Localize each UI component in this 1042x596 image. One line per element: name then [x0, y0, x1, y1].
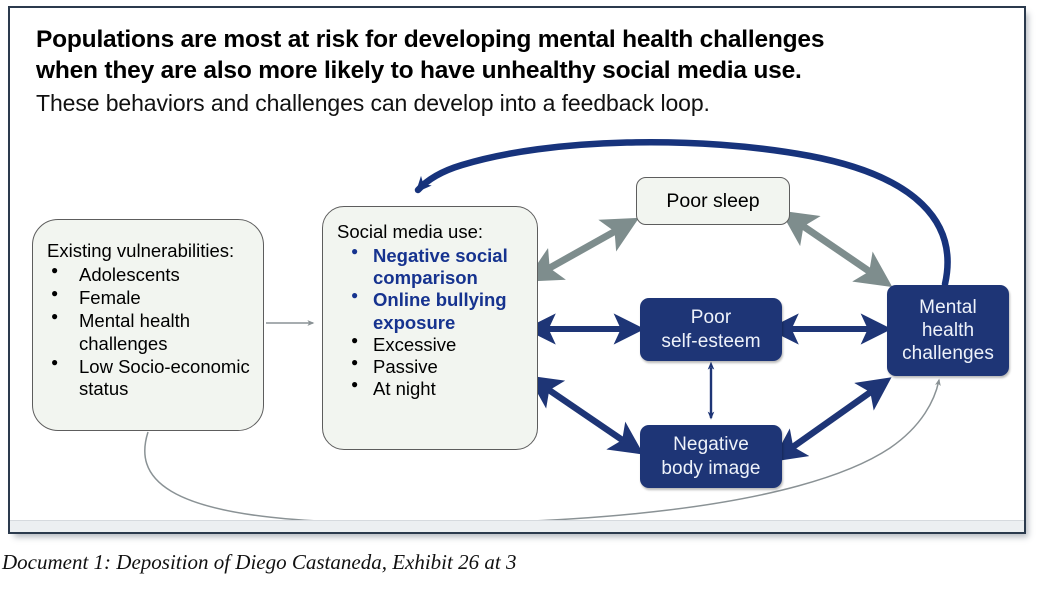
poor-sleep-label: Poor sleep	[666, 190, 759, 213]
screenshot-root: Populations are most at risk for develop…	[0, 0, 1042, 596]
figure-frame: Populations are most at risk for develop…	[8, 6, 1026, 534]
poor-self-esteem-line-1: Poor	[661, 306, 760, 329]
social-media-title: Social media use:	[337, 221, 531, 243]
list-item: Low Socio-economic status	[47, 356, 255, 400]
node-poor-self-esteem: Poor self-esteem	[640, 298, 782, 361]
list-item: Passive	[337, 356, 531, 378]
list-item: Negative social comparison	[337, 245, 531, 289]
social-media-list: Negative social comparison Online bullyi…	[337, 245, 531, 400]
list-item: Adolescents	[47, 264, 255, 286]
arrow-social-media-to-negative-body-image	[546, 388, 634, 448]
negative-body-image-line-1: Negative	[661, 433, 760, 456]
frame-bottom-band	[10, 520, 1024, 532]
mental-health-line-1: Mental	[902, 296, 994, 319]
list-item: Female	[47, 287, 255, 309]
node-negative-body-image: Negative body image	[640, 425, 782, 488]
node-social-media-use: Social media use: Negative social compar…	[322, 206, 538, 450]
poor-self-esteem-line-2: self-esteem	[661, 330, 760, 353]
negative-body-image-line-2: body image	[661, 457, 760, 480]
figure-caption: Document 1: Deposition of Diego Castaned…	[2, 550, 516, 575]
list-item: Mental health challenges	[47, 310, 255, 354]
vulnerabilities-title: Existing vulnerabilities:	[47, 240, 255, 262]
node-mental-health-challenges: Mental health challenges	[887, 285, 1009, 376]
arrow-poor-sleep-to-mental-health	[800, 224, 882, 280]
arrow-social-media-to-poor-sleep	[546, 224, 628, 270]
mental-health-line-3: challenges	[902, 342, 994, 365]
list-item: At night	[337, 378, 531, 400]
mental-health-line-2: health	[902, 319, 994, 342]
feedback-loop-diagram: Existing vulnerabilities: Adolescents Fe…	[10, 8, 1028, 532]
list-item: Excessive	[337, 334, 531, 356]
list-item: Online bullying exposure	[337, 289, 531, 333]
node-existing-vulnerabilities: Existing vulnerabilities: Adolescents Fe…	[32, 219, 264, 431]
vulnerabilities-list: Adolescents Female Mental health challen…	[47, 264, 255, 400]
node-poor-sleep: Poor sleep	[636, 177, 790, 225]
arrow-negative-body-image-to-mental-health	[790, 384, 882, 449]
